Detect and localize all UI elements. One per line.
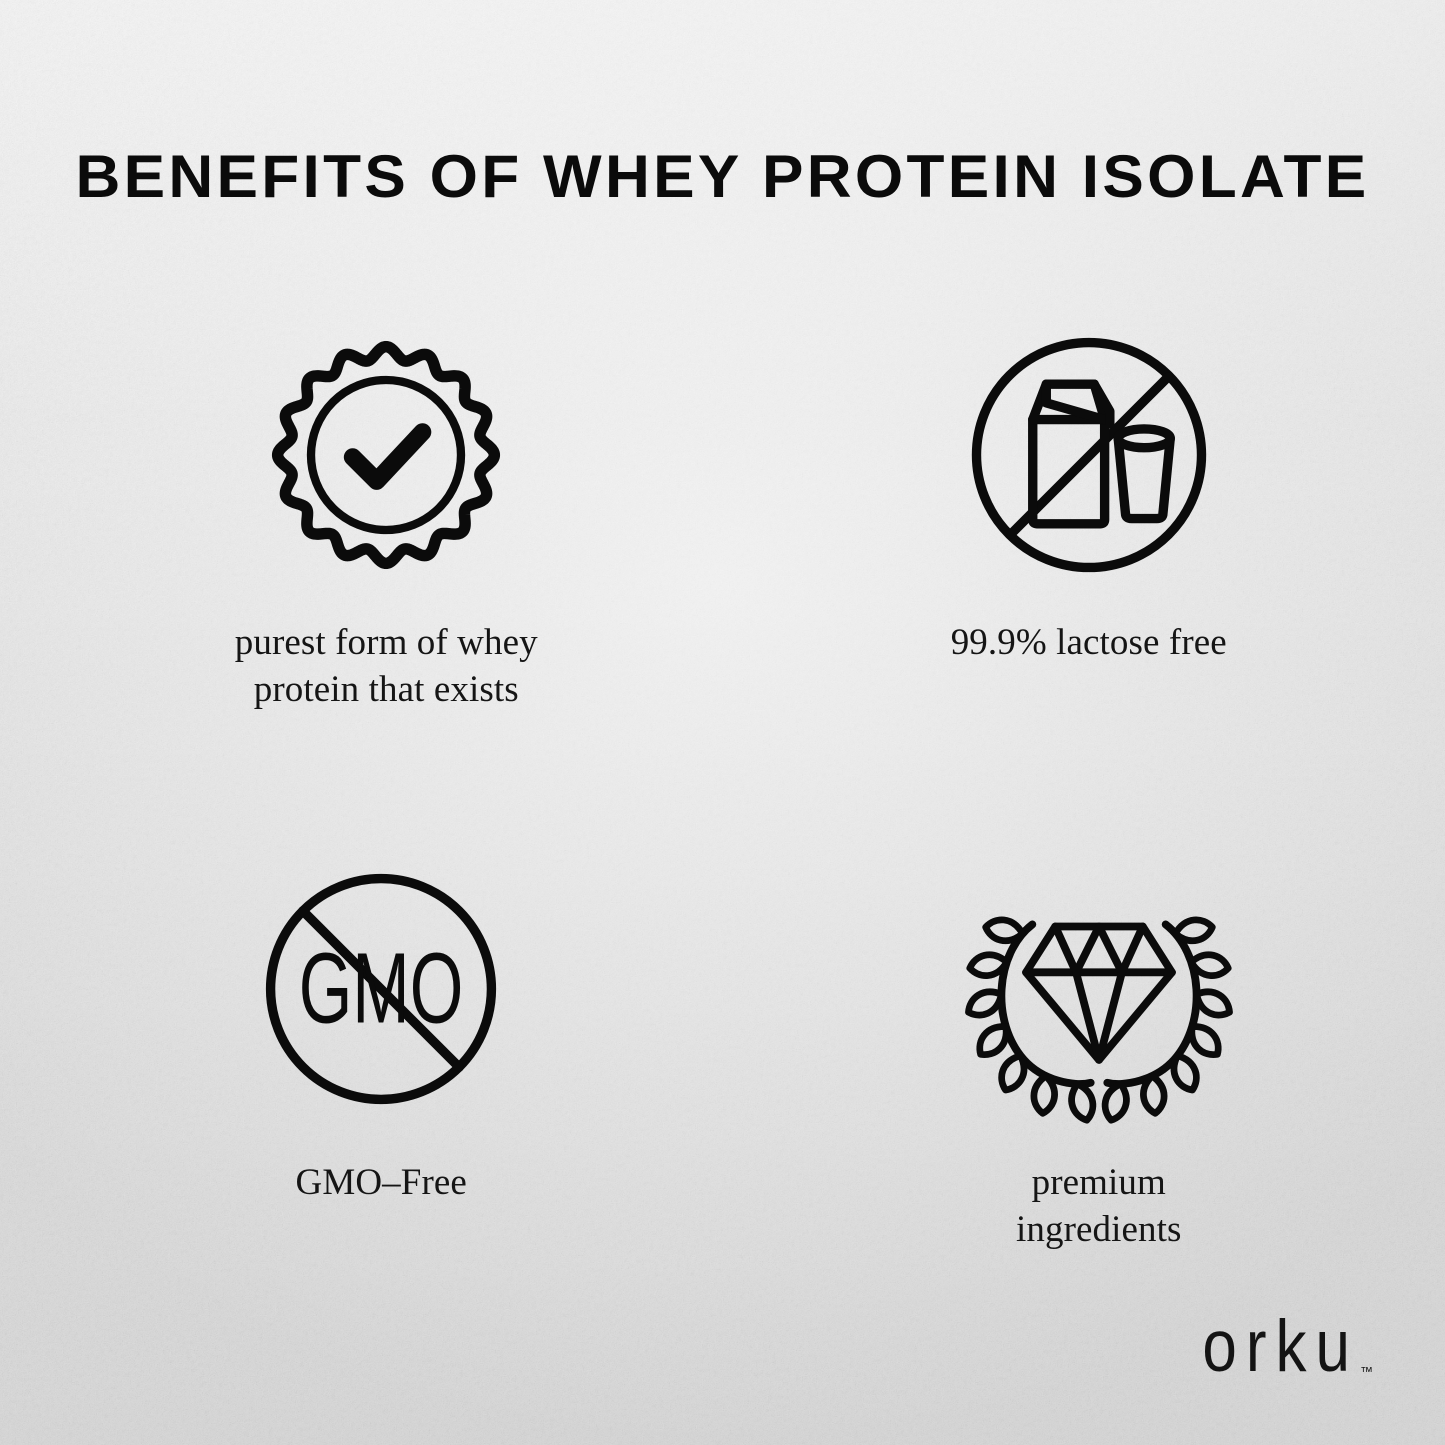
benefit-item-gmo-free: GMO GMO–Free [0, 864, 723, 1254]
laurel-leaf [1168, 1051, 1202, 1094]
benefit-item-purest-form: purest form of whey protein that exists [0, 330, 723, 714]
laurel-leaf [1173, 917, 1213, 944]
benefit-caption: purest form of whey protein that exists [235, 620, 538, 714]
benefit-caption: 99.9% lactose free [951, 620, 1227, 667]
no-lactose-icon [959, 330, 1219, 580]
page-title: BENEFITS OF WHEY PROTEIN ISOLATE [0, 142, 1445, 211]
brand-name: orku [1202, 1314, 1359, 1383]
badge-check-icon [256, 330, 516, 580]
laurel-leaf [1032, 1075, 1056, 1114]
laurel-leaf [996, 1051, 1030, 1094]
benefit-caption: GMO–Free [296, 1160, 467, 1207]
no-gmo-icon: GMO [251, 864, 511, 1114]
laurel-leaf [1101, 1081, 1130, 1122]
laurel-leaf [984, 917, 1024, 944]
trademark-symbol: ™ [1360, 1364, 1373, 1379]
benefits-grid: purest form of whey protein that exists [0, 330, 1445, 1254]
laurel-leaf [1067, 1081, 1096, 1122]
poster-canvas: BENEFITS OF WHEY PROTEIN ISOLATE purest … [0, 0, 1445, 1445]
laurel-leaf [1142, 1075, 1166, 1114]
laurel-diamond-icon [969, 864, 1229, 1114]
brand-logo: orku ™ [1202, 1324, 1373, 1383]
gmo-label: GMO [299, 932, 464, 1044]
laurel-leaf [973, 1020, 1013, 1062]
benefit-caption: premium ingredients [1016, 1160, 1182, 1254]
laurel-leaf [1184, 1020, 1224, 1062]
benefit-item-lactose-free: 99.9% lactose free [723, 330, 1445, 714]
benefit-item-premium-ingredients: premium ingredients [723, 864, 1445, 1254]
